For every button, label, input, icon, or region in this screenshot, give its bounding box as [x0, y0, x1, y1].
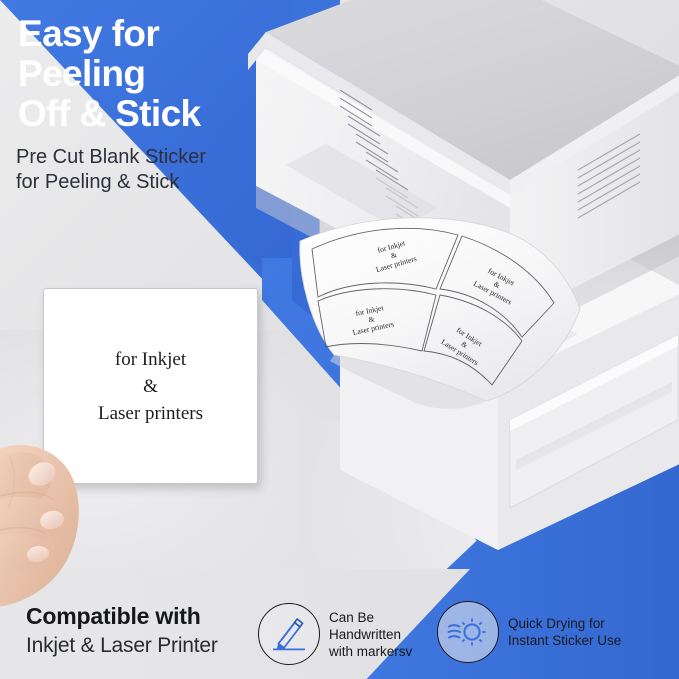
subheadline-line-2: for Peeling & Stick — [16, 170, 316, 195]
compatibility-subtitle: Inkjet & Laser Printer — [26, 631, 218, 661]
subheadline-block: Pre Cut Blank Sticker for Peeling & Stic… — [16, 145, 316, 195]
headline-line-2: Peeling — [18, 54, 288, 94]
sticker-sheet: for Inkjet & Laser printers for Inkjet &… — [296, 205, 596, 420]
feature-handwritten-line-3: with markersv — [329, 643, 412, 660]
hand-holding-label — [0, 408, 157, 608]
subheadline-line-1: Pre Cut Blank Sticker — [16, 145, 316, 170]
sun-wind-icon — [447, 612, 489, 652]
feature-handwritten: Can Be Handwritten with markersv — [258, 603, 412, 665]
pen-icon — [269, 614, 309, 654]
feature-handwritten-circle — [258, 603, 320, 665]
feature-quick-drying-label: Quick Drying for Instant Sticker Use — [508, 615, 621, 649]
feature-handwritten-line-1: Can Be — [329, 609, 412, 626]
compatibility-block: Compatible with Inkjet & Laser Printer — [26, 601, 218, 661]
feature-handwritten-label: Can Be Handwritten with markersv — [329, 609, 412, 660]
held-label-line-2: & — [98, 373, 203, 400]
headline-line-1: Easy for — [18, 14, 288, 54]
headline-block: Easy for Peeling Off & Stick — [18, 14, 288, 134]
held-label-line-1: for Inkjet — [98, 346, 203, 373]
compatibility-title: Compatible with — [26, 601, 218, 631]
feature-quick-drying-line-1: Quick Drying for — [508, 615, 621, 632]
feature-handwritten-line-2: Handwritten — [329, 626, 412, 643]
headline-line-3: Off & Stick — [18, 94, 288, 134]
feature-quick-drying-line-2: Instant Sticker Use — [508, 632, 621, 649]
feature-quick-drying: Quick Drying for Instant Sticker Use — [437, 601, 621, 663]
feature-quick-drying-circle — [437, 601, 499, 663]
product-banner-stage: for Inkjet & Laser printers for Inkjet &… — [0, 0, 679, 679]
